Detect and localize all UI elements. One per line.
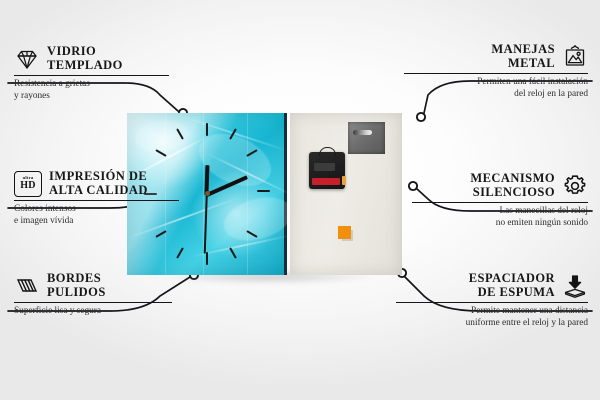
callout-title: ESPACIADOR DE ESPUMA [469, 272, 555, 299]
foam-spacer-icon [562, 273, 588, 299]
clock-minute-hand [206, 175, 248, 197]
battery [312, 178, 340, 185]
callout-title: MANEJAS METAL [491, 43, 555, 70]
battery-terminal [342, 176, 346, 185]
callout-desc: Resistencia a grietas y rayones [14, 79, 189, 102]
callout-desc: Las manecillas del reloj no emiten ningú… [412, 206, 588, 229]
clock-back-plate [290, 113, 402, 275]
mechanism-face-detail [314, 163, 335, 171]
metal-hanger-plate [348, 122, 385, 154]
callout-desc: Permiten una fácil instalación del reloj… [404, 77, 588, 100]
callout-manejas-metal: MANEJAS METAL Permiten una fácil instala… [404, 43, 588, 100]
callout-rule [412, 202, 588, 203]
anchor-dot-manejas [417, 113, 425, 121]
clock-second-hand [204, 194, 208, 254]
callout-title: VIDRIO TEMPLADO [47, 45, 123, 72]
callout-espaciador-espuma: ESPACIADOR DE ESPUMA Permite mantener un… [396, 272, 588, 329]
hd-icon-main-text: HD [20, 181, 36, 191]
clock-center-cap [205, 191, 210, 196]
callout-desc: Superficie lisa y segura [14, 306, 189, 317]
callout-rule [404, 73, 588, 74]
callout-rule [14, 75, 169, 76]
diamond-icon [14, 46, 40, 72]
gear-icon [562, 173, 588, 199]
callout-mecanismo-silencioso: MECANISMO SILENCIOSO Las manecillas del … [412, 172, 588, 229]
picture-frame-hanger-icon [562, 44, 588, 70]
mechanism-hook [319, 147, 336, 156]
polished-edges-icon [14, 273, 40, 299]
callout-rule [14, 302, 172, 303]
callout-desc: Colores intensos e imagen vívida [14, 204, 199, 227]
callout-title: MECANISMO SILENCIOSO [470, 172, 555, 199]
callout-vidrio-templado: VIDRIO TEMPLADO Resistencia a grietas y … [14, 45, 189, 102]
callout-desc: Permite mantener una distancia uniforme … [396, 306, 588, 329]
ultra-hd-icon: ultra HD [14, 171, 42, 197]
callout-impresion-alta-calidad: ultra HD IMPRESIÓN DE ALTA CALIDAD Color… [14, 170, 199, 227]
callout-title: IMPRESIÓN DE ALTA CALIDAD [49, 170, 148, 197]
callout-title: BORDES PULIDOS [47, 272, 106, 299]
infographic-canvas: VIDRIO TEMPLADO Resistencia a grietas y … [0, 0, 600, 400]
foam-spacer [338, 226, 351, 239]
callout-bordes-pulidos: BORDES PULIDOS Superficie lisa y segura [14, 272, 189, 318]
callout-rule [396, 302, 588, 303]
callout-rule [14, 200, 179, 201]
hanger-keyhole-slot [353, 130, 372, 135]
quartz-mechanism-box [309, 152, 345, 189]
